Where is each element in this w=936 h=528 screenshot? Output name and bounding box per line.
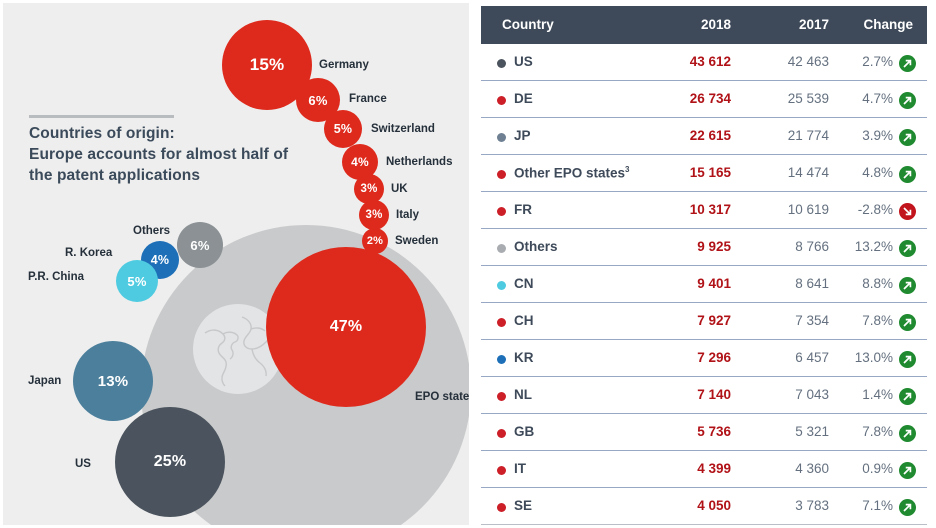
- country-color-dot: [497, 244, 506, 253]
- country-color-dot: [497, 170, 506, 179]
- bubble-value: 6%: [308, 93, 327, 108]
- cell-2018: 43 612: [631, 54, 731, 69]
- bubble-chart-panel: Countries of origin: Europe accounts for…: [3, 3, 469, 525]
- bubble-label-sweden: Sweden: [395, 235, 438, 247]
- cell-country: JP: [514, 128, 531, 143]
- table-row[interactable]: KR7 2966 45713.0%: [481, 340, 927, 377]
- column-header-2017: 2017: [739, 17, 829, 32]
- cell-change: 7.8%: [821, 424, 893, 439]
- bubble-switzerland: 5%: [324, 110, 362, 148]
- table-row[interactable]: Others9 9258 76613.2%: [481, 229, 927, 266]
- bubble-value: 5%: [334, 122, 352, 136]
- footnote-marker: 3: [625, 165, 629, 174]
- cell-2017: 42 463: [731, 54, 829, 69]
- country-color-dot: [497, 318, 506, 327]
- trend-up-icon: [899, 240, 916, 257]
- trend-up-icon: [899, 166, 916, 183]
- bubble-label-uk: UK: [391, 183, 408, 195]
- trend-up-icon: [899, 314, 916, 331]
- infographic-root: Countries of origin: Europe accounts for…: [0, 0, 936, 528]
- bubble-value: 15%: [250, 55, 285, 75]
- cell-2017: 25 539: [731, 91, 829, 106]
- cell-country: SE: [514, 498, 532, 513]
- country-color-dot: [497, 207, 506, 216]
- cell-2018: 5 736: [631, 424, 731, 439]
- cell-2018: 9 401: [631, 276, 731, 291]
- cell-2018: 10 317: [631, 202, 731, 217]
- bubble-value: 25%: [154, 453, 187, 471]
- cell-country: NL: [514, 387, 532, 402]
- cell-change: 3.9%: [821, 128, 893, 143]
- bubble-label-epo-states: EPO states: [415, 391, 469, 403]
- cell-2017: 7 043: [731, 387, 829, 402]
- cell-2017: 14 474: [731, 165, 829, 180]
- cell-2017: 10 619: [731, 202, 829, 217]
- trend-up-icon: [899, 462, 916, 479]
- table-row[interactable]: FR10 31710 619-2.8%: [481, 192, 927, 229]
- trend-up-icon: [899, 277, 916, 294]
- trend-up-icon: [899, 129, 916, 146]
- table-row[interactable]: US43 61242 4632.7%: [481, 44, 927, 81]
- cell-change: 2.7%: [821, 54, 893, 69]
- bubble-value: 4%: [351, 155, 369, 169]
- table-row[interactable]: NL7 1407 0431.4%: [481, 377, 927, 414]
- cell-country: DE: [514, 91, 533, 106]
- bubble-us: 25%: [115, 407, 225, 517]
- cell-2017: 6 457: [731, 350, 829, 365]
- cell-change: 8.8%: [821, 276, 893, 291]
- cell-change: 7.1%: [821, 498, 893, 513]
- country-data-table: Country 2018 2017 Change US43 61242 4632…: [472, 0, 936, 528]
- cell-2018: 4 050: [631, 498, 731, 513]
- bubble-label-us: US: [75, 458, 91, 470]
- bubble-label-germany: Germany: [319, 59, 369, 71]
- cell-2018: 22 615: [631, 128, 731, 143]
- cell-country: IT: [514, 461, 526, 476]
- cell-2017: 5 321: [731, 424, 829, 439]
- cell-2017: 4 360: [731, 461, 829, 476]
- table-row[interactable]: JP22 61521 7743.9%: [481, 118, 927, 155]
- cell-change: 13.2%: [821, 239, 893, 254]
- table-row[interactable]: IT4 3994 3600.9%: [481, 451, 927, 488]
- cell-2018: 15 165: [631, 165, 731, 180]
- cell-country: FR: [514, 202, 532, 217]
- cell-2017: 7 354: [731, 313, 829, 328]
- country-color-dot: [497, 96, 506, 105]
- cell-change: 13.0%: [821, 350, 893, 365]
- bubble-others: 6%: [177, 222, 223, 268]
- cell-country: Others: [514, 239, 558, 254]
- table-row[interactable]: Other EPO states315 16514 4744.8%: [481, 155, 927, 192]
- cell-change: 4.7%: [821, 91, 893, 106]
- table-row[interactable]: CH7 9277 3547.8%: [481, 303, 927, 340]
- country-color-dot: [497, 59, 506, 68]
- cell-2017: 8 766: [731, 239, 829, 254]
- cell-country: CN: [514, 276, 534, 291]
- cell-change: 4.8%: [821, 165, 893, 180]
- title-divider: [29, 115, 174, 118]
- cell-country: Other EPO states3: [514, 165, 630, 181]
- table-row[interactable]: SE4 0503 7837.1%: [481, 488, 927, 525]
- cell-2017: 3 783: [731, 498, 829, 513]
- bubble-italy: 3%: [359, 200, 389, 230]
- trend-up-icon: [899, 499, 916, 516]
- cell-2018: 7 296: [631, 350, 731, 365]
- cell-country: GB: [514, 424, 534, 439]
- bubble-value: 2%: [367, 235, 383, 247]
- bubble-label-p-r-china: P.R. China: [28, 271, 84, 283]
- cell-country: CH: [514, 313, 534, 328]
- country-color-dot: [497, 429, 506, 438]
- cell-2017: 8 641: [731, 276, 829, 291]
- cell-2017: 21 774: [731, 128, 829, 143]
- bubble-label-france: France: [349, 93, 387, 105]
- page-title: Countries of origin: Europe accounts for…: [29, 123, 329, 186]
- country-color-dot: [497, 281, 506, 290]
- table-header-row: Country 2018 2017 Change: [481, 6, 927, 44]
- column-header-country: Country: [502, 17, 554, 32]
- bubble-label-italy: Italy: [396, 209, 419, 221]
- country-color-dot: [497, 503, 506, 512]
- trend-up-icon: [899, 388, 916, 405]
- table-body: US43 61242 4632.7%DE26 73425 5394.7%JP22…: [481, 44, 927, 525]
- bubble-epo-states: 47%: [266, 247, 426, 407]
- trend-down-icon: [899, 203, 916, 220]
- cell-change: 7.8%: [821, 313, 893, 328]
- bubble-p-r-china: 5%: [116, 260, 158, 302]
- country-color-dot: [497, 392, 506, 401]
- column-header-change: Change: [829, 17, 913, 32]
- trend-up-icon: [899, 92, 916, 109]
- bubble-value: 6%: [190, 238, 209, 253]
- bubble-value: 5%: [127, 274, 146, 289]
- cell-2018: 4 399: [631, 461, 731, 476]
- bubble-value: 4%: [151, 253, 169, 267]
- bubble-label-others: Others: [133, 225, 170, 237]
- trend-up-icon: [899, 55, 916, 72]
- bubble-label-r-korea: R. Korea: [65, 247, 112, 259]
- cell-2018: 7 927: [631, 313, 731, 328]
- trend-up-icon: [899, 425, 916, 442]
- table-row[interactable]: DE26 73425 5394.7%: [481, 81, 927, 118]
- cell-2018: 9 925: [631, 239, 731, 254]
- bubble-value: 13%: [98, 373, 129, 390]
- cell-country: KR: [514, 350, 534, 365]
- country-color-dot: [497, 133, 506, 142]
- cell-2018: 26 734: [631, 91, 731, 106]
- column-header-2018: 2018: [641, 17, 731, 32]
- table-row[interactable]: CN9 4018 6418.8%: [481, 266, 927, 303]
- bubble-uk: 3%: [354, 174, 384, 204]
- bubble-value: 3%: [360, 183, 377, 195]
- trend-up-icon: [899, 351, 916, 368]
- bubble-value: 47%: [330, 318, 363, 336]
- cell-change: 1.4%: [821, 387, 893, 402]
- table-row[interactable]: GB5 7365 3217.8%: [481, 414, 927, 451]
- cell-change: -2.8%: [821, 202, 893, 217]
- bubble-label-netherlands: Netherlands: [386, 156, 452, 168]
- cell-country: US: [514, 54, 533, 69]
- bubble-label-switzerland: Switzerland: [371, 123, 435, 135]
- cell-2018: 7 140: [631, 387, 731, 402]
- country-color-dot: [497, 355, 506, 364]
- bubble-japan: 13%: [73, 341, 153, 421]
- bubble-value: 3%: [365, 209, 382, 221]
- cell-change: 0.9%: [821, 461, 893, 476]
- country-color-dot: [497, 466, 506, 475]
- bubble-label-japan: Japan: [28, 375, 61, 387]
